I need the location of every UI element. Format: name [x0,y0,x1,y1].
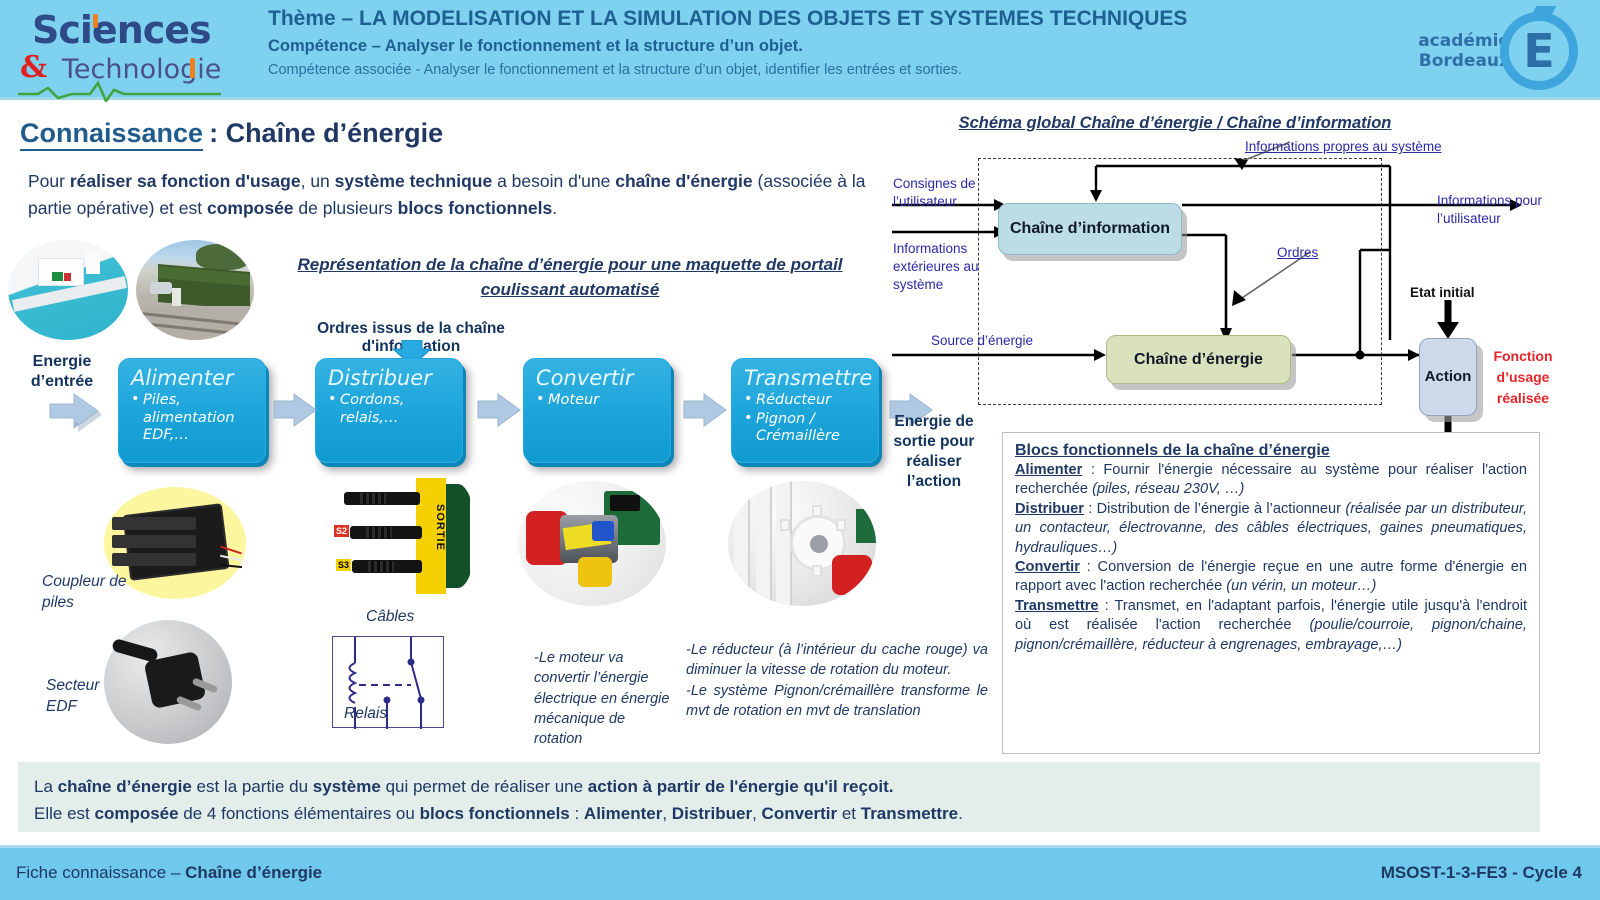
caption-secteur-edf: Secteur EDF [46,676,126,718]
photo-maquette-portail [8,240,128,340]
summary-line-1: La chaîne d’énergie est la partie du sys… [34,773,1524,800]
block-transmettre-title: Transmettre [744,367,868,389]
note-reducteur: -Le réducteur (à l’intérieur du cache ro… [686,640,988,721]
academie-text: académie Bordeaux [1418,32,1510,71]
schema-box-action[interactable]: Action [1419,338,1477,416]
schema-label-infos-utilisateur: Informations pour l’utilisateur [1437,192,1587,228]
block-convertir-item-0: Moteur [536,392,660,410]
academie-line2: Bordeaux [1418,52,1510,72]
block-transmettre-item-0: Réducteur [744,392,868,410]
definition-key-0: Alimenter [1015,462,1082,478]
sciences-technologie-logo: Sciences & Technologie [14,6,239,94]
page-footer: Fiche connaissance – Chaîne d’énergie MS… [0,845,1600,900]
schema-label-source-energie: Source d’énergie [931,332,1033,350]
header-title-group: Thème – LA MODELISATION ET LA SIMULATION… [268,6,1328,78]
photo-moteur [518,481,666,606]
schema-box-chaine-information[interactable]: Chaîne d’information [998,203,1182,255]
page-header: Sciences & Technologie Thème – LA MODELI… [0,0,1600,100]
schema-label-ordres: Ordres [1277,244,1318,262]
energie-entree-arrow-icon [48,390,114,436]
footer-left: Fiche connaissance – Chaîne d’énergie [16,863,322,883]
block-alimenter[interactable]: Alimenter Piles, alimentation EDF,… [118,358,266,463]
logo-g-accent-icon [190,58,195,78]
ecg-wave-icon [16,80,231,102]
schema-label-consignes: Consignes de l’utilisateur [893,175,979,211]
header-theme: Thème – LA MODELISATION ET LA SIMULATION… [268,6,1328,32]
definition-key-3: Transmettre [1015,598,1099,614]
block-transmettre[interactable]: Transmettre Réducteur Pignon / Crémaillè… [731,358,879,463]
flow-arrow-3-icon [682,392,730,428]
academie-line1: académie [1418,32,1510,52]
caption-coupleur-de-piles: Coupleur de piles [42,572,132,614]
definition-item-1: Distribuer : Distribution de l’énergie à… [1015,500,1527,558]
schema-box-action-label: Action [1425,368,1472,387]
header-competence-associee: Compétence associée - Analyser le foncti… [268,62,1328,78]
flow-arrow-1-icon [272,392,320,428]
logo-i-dot-icon [93,14,98,28]
block-convertir-title: Convertir [536,367,660,389]
logo-word-sciences: Sciences [32,8,211,52]
schema-label-etat-initial: Etat initial [1410,285,1475,300]
definitions-panel: Blocs fonctionnels de la chaîne d’énergi… [1002,432,1540,754]
summary-box: La chaîne d’énergie est la partie du sys… [18,762,1540,832]
block-distribuer[interactable]: Distribuer Cordons, relais,… [315,358,463,463]
academie-bordeaux-logo: académie Bordeaux E [1414,8,1584,94]
intro-paragraph: Pour réaliser sa fonction d'usage, un sy… [28,168,868,222]
block-transmettre-item-1: Pignon / Crémaillère [744,411,868,446]
definition-text-1: : Distribution de l’énergie à l’actionne… [1084,501,1345,517]
definition-example-2: (un vérin, un moteur…) [1226,578,1376,594]
photo-portail-reel [136,240,254,340]
schema-label-infos-propres: Informations propres au système [1245,138,1442,156]
definition-item-3: Transmettre : Transmet, en l'adaptant pa… [1015,597,1527,655]
definition-example-0: (piles, réseau 230V, …) [1092,481,1244,497]
footer-right: MSOST-1-3-FE3 - Cycle 4 [1381,863,1582,883]
schema-label-infos-exterieures: Informations extérieures au système [893,240,983,295]
schema-label-fonction-usage: Fonction d’usage réalisée [1484,346,1562,409]
schema-box-chaine-energie-label: Chaîne d’énergie [1134,350,1263,370]
schema-box-chaine-information-label: Chaîne d’information [1010,219,1170,239]
caption-relais: Relais [344,705,387,723]
block-alimenter-item-0: Piles, alimentation EDF,… [131,392,255,445]
etat-initial-arrow-icon [1434,300,1462,340]
representation-title-line1: Représentation de la chaîne d’énergie po… [297,255,842,274]
photo-cables: SORTIE S2 S3 [330,478,470,594]
definitions-title: Blocs fonctionnels de la chaîne d’énergi… [1015,442,1527,460]
schema-box-chaine-energie[interactable]: Chaîne d’énergie [1106,335,1291,384]
block-distribuer-title: Distribuer [328,367,452,389]
block-distribuer-item-0: Cordons, relais,… [328,392,452,427]
academie-monogram-icon: E [1500,12,1578,90]
definition-key-1: Distribuer [1015,501,1084,517]
note-moteur: -Le moteur va convertir l’énergie électr… [534,648,674,749]
page-title: Connaissance: Chaîne d’énergie [20,118,443,149]
representation-title-line2: coulissant automatisé [481,280,660,299]
block-convertir[interactable]: Convertir Moteur [523,358,671,463]
caption-cables: Câbles [366,607,414,628]
definition-item-0: Alimenter : Fournir l'énergie nécessaire… [1015,461,1527,500]
flow-arrow-2-icon [476,392,524,428]
page-title-label: Connaissance [20,118,203,151]
summary-line-2: Elle est composée de 4 fonctions élément… [34,800,1524,827]
label-energie-entree: Energie d’entrée [12,352,112,392]
page-title-rest: : Chaîne d’énergie [209,118,443,148]
header-competence: Compétence – Analyser le fonctionnement … [268,37,1328,56]
photo-reducteur-pignon [728,481,876,606]
definition-item-2: Convertir : Conversion de l'énergie reçu… [1015,558,1527,597]
representation-title: Représentation de la chaîne d’énergie po… [285,253,855,302]
block-alimenter-title: Alimenter [131,367,255,389]
academie-monogram-letter: E [1523,28,1554,74]
definition-key-2: Convertir [1015,559,1080,575]
